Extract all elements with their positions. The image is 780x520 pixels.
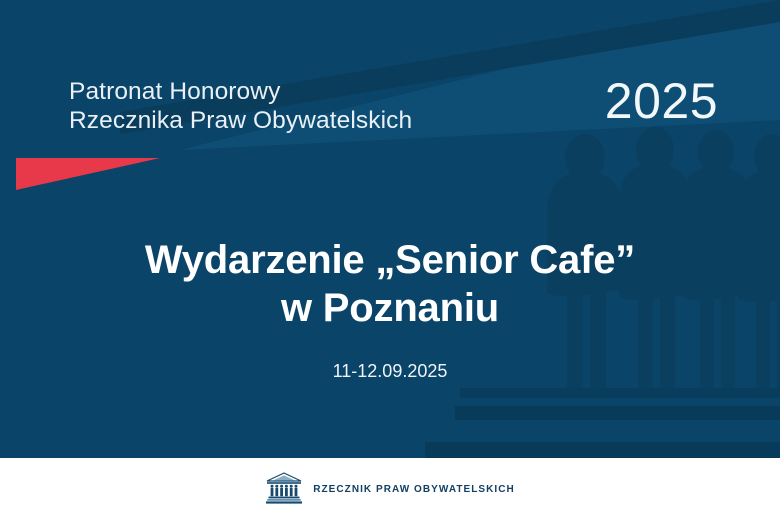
year-label: 2025: [605, 74, 718, 128]
poster-stage: Patronat Honorowy Rzecznika Praw Obywate…: [0, 0, 780, 458]
footer-bar: RZECZNIK PRAW OBYWATELSKICH: [0, 458, 780, 520]
ombudsman-building-icon: [265, 472, 303, 506]
step-bands: [400, 388, 780, 458]
event-date: 11-12.09.2025: [0, 359, 780, 383]
poster-banner: Patronat Honorowy Rzecznika Praw Obywate…: [0, 0, 780, 520]
page-title: Wydarzenie „Senior Cafe” w Poznaniu: [0, 236, 780, 332]
red-accent-wedge: [16, 158, 160, 190]
ombudsman-logo-lockup: RZECZNIK PRAW OBYWATELSKICH: [265, 472, 515, 506]
ombudsman-wordmark: RZECZNIK PRAW OBYWATELSKICH: [313, 484, 515, 495]
background-artwork: [0, 0, 780, 458]
patronage-text: Patronat Honorowy Rzecznika Praw Obywate…: [69, 78, 412, 135]
